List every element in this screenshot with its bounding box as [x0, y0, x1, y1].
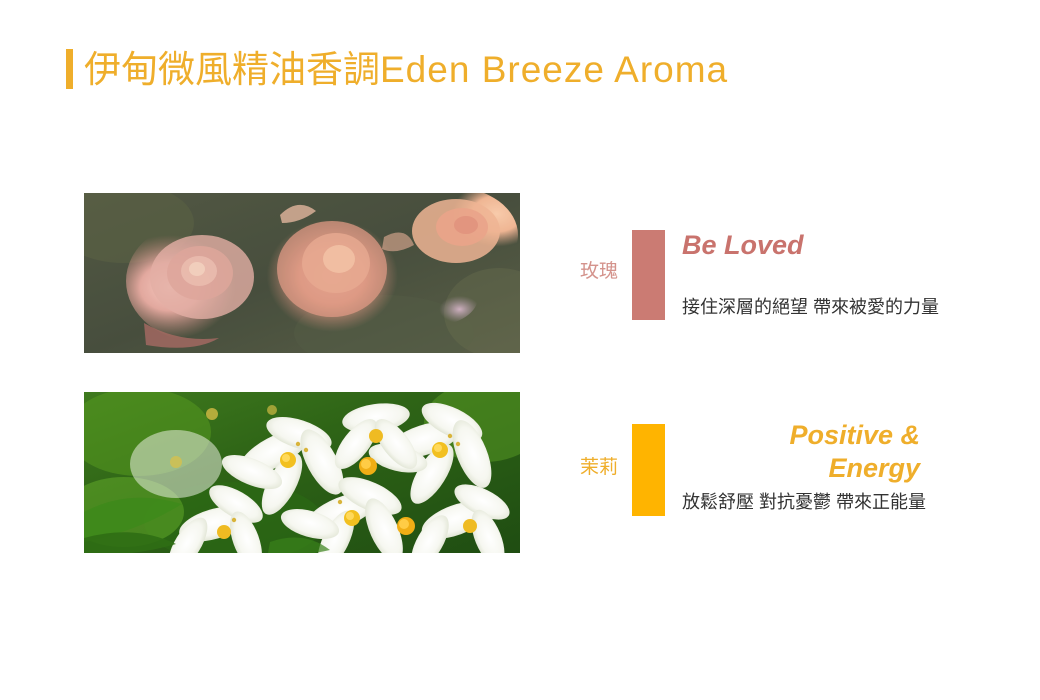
- title-accent-bar: [66, 49, 73, 89]
- jasmine-color-bar: [632, 424, 665, 516]
- jasmine-headline: Positive & Energy: [682, 419, 920, 485]
- title-text: 伊甸微風精油香調Eden Breeze Aroma: [84, 51, 728, 88]
- rose-headline: Be Loved: [682, 229, 804, 262]
- jasmine-description: 放鬆舒壓 對抗憂鬱 帶來正能量: [682, 491, 926, 514]
- rose-photo-image: [84, 193, 520, 353]
- jasmine-photo: [84, 392, 520, 553]
- rose-color-bar: [632, 230, 665, 320]
- title-latin: Eden Breeze Aroma: [380, 49, 728, 90]
- page-title: 伊甸微風精油香調Eden Breeze Aroma: [66, 43, 728, 95]
- flower-label-jasmine: 茉莉: [556, 457, 618, 480]
- rose-caption: 玫瑰 Be Loved 接住深層的絕望 帶來被愛的力量: [556, 193, 996, 353]
- jasmine-photo-image: [84, 392, 520, 553]
- title-cjk: 伊甸微風精油香調: [84, 49, 380, 90]
- aroma-row-rose: 玫瑰 Be Loved 接住深層的絕望 帶來被愛的力量: [0, 193, 1040, 353]
- rose-description: 接住深層的絕望 帶來被愛的力量: [682, 296, 939, 319]
- jasmine-caption: 茉莉 Positive & Energy 放鬆舒壓 對抗憂鬱 帶來正能量: [556, 392, 996, 553]
- aroma-row-jasmine: 茉莉 Positive & Energy 放鬆舒壓 對抗憂鬱 帶來正能量: [0, 392, 1040, 553]
- flower-label-rose: 玫瑰: [556, 261, 618, 284]
- rose-photo: [84, 193, 520, 353]
